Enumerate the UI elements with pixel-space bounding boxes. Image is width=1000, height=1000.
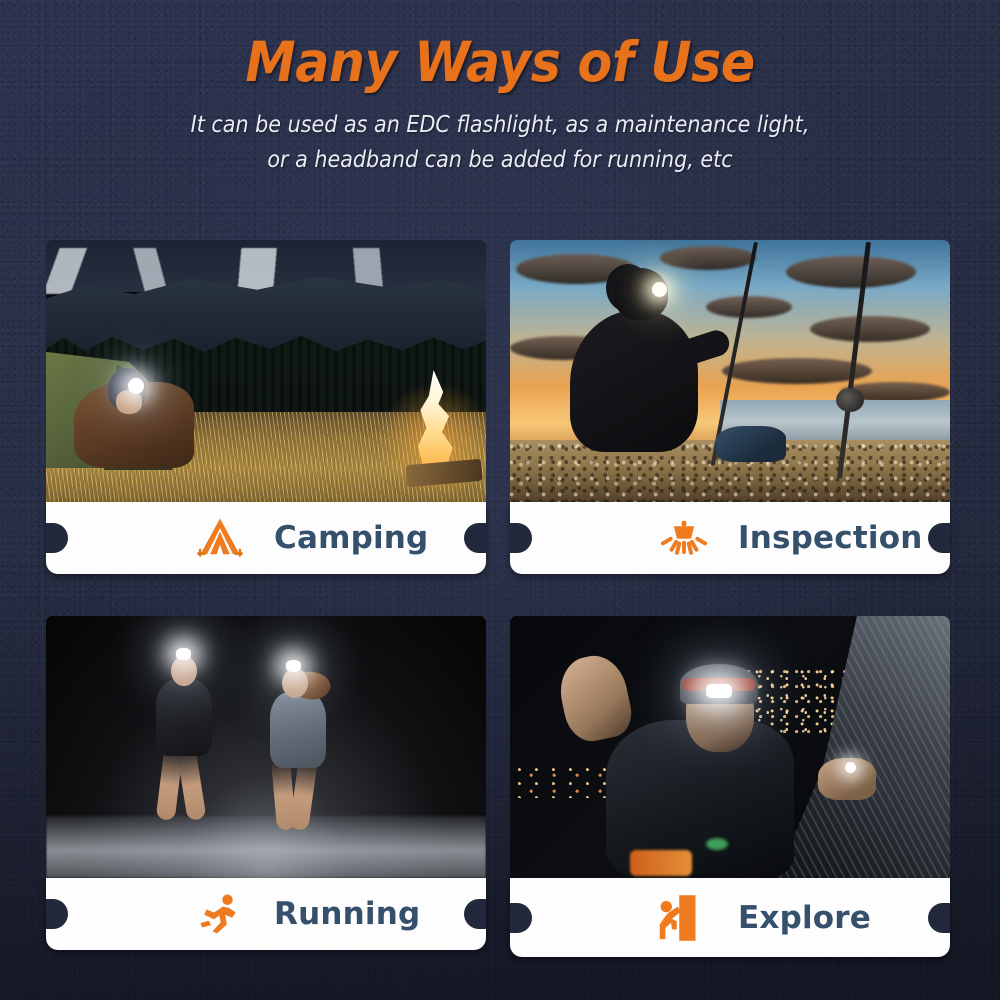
subtitle-line-2: or a headband can be added for running, … (50, 143, 950, 178)
inspection-label-bar[interactable]: Inspection (510, 502, 950, 574)
ticket-notch-left (46, 523, 68, 553)
use-case-card-explore[interactable]: Explore (510, 616, 950, 957)
runner-torso (270, 692, 326, 768)
running-label-bar[interactable]: Running (46, 878, 486, 950)
explore-label-text: Explore (738, 900, 871, 936)
use-case-card-running[interactable]: Running (46, 616, 486, 950)
explore-label-bar[interactable]: Explore (510, 878, 950, 957)
green-gear-light (706, 838, 728, 850)
explore-photo (510, 616, 950, 878)
infographic-page: Many Ways of Use It can be used as an ED… (0, 0, 1000, 1000)
fishing-reel (836, 388, 864, 412)
running-person-icon (194, 888, 246, 940)
ticket-notch-left (46, 899, 68, 929)
running-photo (46, 616, 486, 878)
ticket-notch-right (928, 523, 950, 553)
lit-road (46, 816, 486, 878)
work-lamp-icon (658, 512, 710, 564)
headlamp-beam (706, 684, 732, 698)
ticket-notch-right (928, 903, 950, 933)
page-subtitle: It can be used as an EDC flashlight, as … (50, 108, 950, 178)
camping-label-text: Camping (274, 520, 428, 556)
cloud (706, 296, 792, 318)
header: Many Ways of Use It can be used as an ED… (0, 0, 1000, 178)
camping-label-bar[interactable]: Camping (46, 502, 486, 574)
ticket-notch-left (510, 903, 532, 933)
ticket-notch-right (464, 523, 486, 553)
tent-icon (194, 512, 246, 564)
orange-gear-light (630, 850, 692, 876)
cloud (810, 316, 930, 342)
inspection-label-text: Inspection (738, 520, 922, 556)
headlamp-beam (128, 378, 144, 394)
use-case-card-camping[interactable]: Camping (46, 240, 486, 574)
subtitle-line-1: It can be used as an EDC flashlight, as … (50, 108, 950, 143)
climber-icon (650, 892, 702, 944)
cloud (660, 246, 756, 270)
ticket-notch-right (464, 899, 486, 929)
angler-body (570, 310, 698, 452)
running-label-text: Running (274, 896, 420, 932)
runner-head (282, 668, 308, 698)
tackle-bag (716, 426, 786, 462)
runner-head (171, 656, 197, 686)
headlamp-beam (286, 660, 301, 672)
use-case-card-inspection[interactable]: Inspection (510, 240, 950, 574)
headlamp-beam (652, 282, 667, 297)
runner-torso (156, 680, 212, 756)
inspection-photo (510, 240, 950, 502)
cloud (786, 256, 916, 288)
page-title: Many Ways of Use (40, 34, 960, 92)
ticket-notch-left (510, 523, 532, 553)
light-glint (845, 762, 856, 773)
headlamp-beam (176, 648, 191, 660)
camping-photo (46, 240, 486, 502)
